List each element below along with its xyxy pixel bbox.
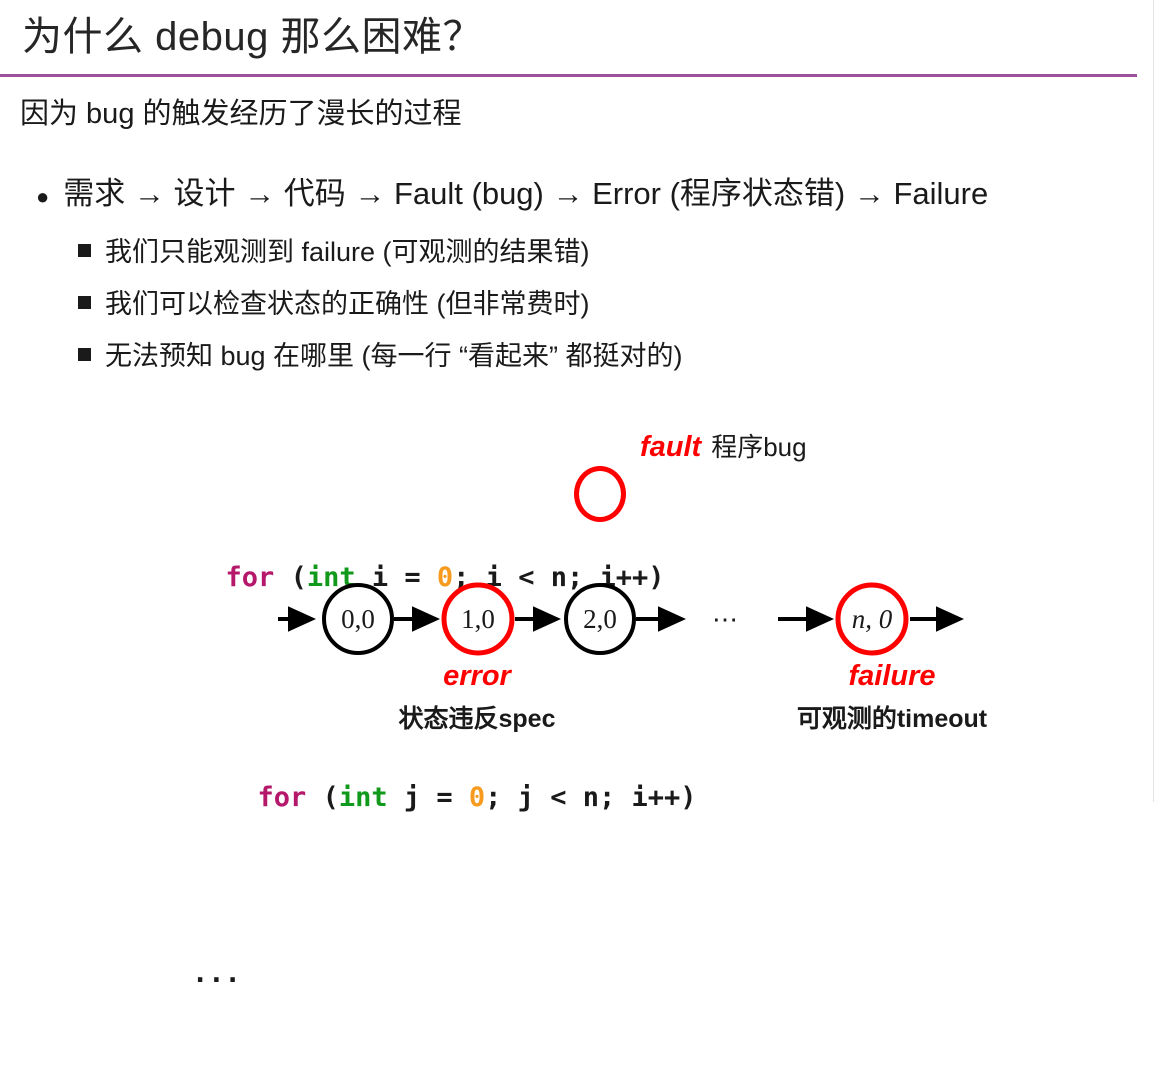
failure-label-cn: 可观测的timeout bbox=[782, 704, 1002, 735]
list-item: 我们可以检查状态的正确性 (但非常费时) bbox=[78, 282, 1118, 334]
slide-canvas: 为什么 debug 那么困难？ 因为 bug 的触发经历了漫长的过程 ● 需求 … bbox=[0, 0, 1154, 802]
list-item: 我们只能观测到 failure (可观测的结果错) bbox=[78, 230, 1118, 282]
state-node-label: n, 0 bbox=[852, 604, 893, 634]
code-token-keyword: for bbox=[258, 782, 307, 813]
bullet-level1: ● 需求 → 设计 → 代码 → Fault (bug) → Error (程序… bbox=[36, 168, 988, 213]
state-diagram: 0,0 1,0 2,0 ⋯ n, 0 bbox=[270, 578, 1010, 664]
state-node-label: 1,0 bbox=[461, 604, 495, 634]
fault-label-cn: 程序bug bbox=[711, 432, 806, 462]
code-token-number: 0 bbox=[469, 782, 485, 813]
lead-paragraph: 因为 bug 的触发经历了漫长的过程 bbox=[20, 96, 462, 134]
state-node-label: 0,0 bbox=[341, 604, 375, 634]
fault-label: fault bbox=[640, 431, 701, 463]
page-title: 为什么 debug 那么困难？ bbox=[0, 0, 1137, 68]
diagram-ellipsis: ⋯ bbox=[712, 605, 738, 634]
code-line-2: for (int j = 0; j < n; i++) bbox=[128, 732, 697, 864]
title-divider bbox=[0, 74, 1137, 77]
sub-bullet-text: 我们只能观测到 failure (可观测的结果错) bbox=[105, 230, 590, 269]
bullet-level1-text: 需求 → 设计 → 代码 → Fault (bug) → Error (程序状态… bbox=[63, 168, 988, 213]
failure-label: failure bbox=[782, 658, 1002, 694]
sub-bullet-list: 我们只能观测到 failure (可观测的结果错) 我们可以检查状态的正确性 (… bbox=[78, 230, 1118, 386]
state-node-label: 2,0 bbox=[583, 604, 617, 634]
square-bullet-icon bbox=[78, 244, 91, 257]
code-token-expr: j = bbox=[388, 782, 469, 813]
error-caption-group: error 状态违反spec bbox=[392, 658, 562, 736]
code-line-3: ... bbox=[128, 952, 697, 996]
sub-bullet-text: 我们可以检查状态的正确性 (但非常费时) bbox=[105, 282, 589, 321]
list-item: 无法预知 bug 在哪里 (每一行 “看起来” 都挺对的) bbox=[78, 334, 1118, 386]
slide-header: 为什么 debug 那么困难？ bbox=[0, 0, 1137, 77]
failure-caption-group: failure 可观测的timeout bbox=[782, 658, 1002, 736]
error-label-cn: 状态违反spec bbox=[392, 704, 562, 735]
square-bullet-icon bbox=[78, 348, 91, 361]
code-token-punct: ( bbox=[306, 782, 339, 813]
sub-bullet-text: 无法预知 bug 在哪里 (每一行 “看起来” 都挺对的) bbox=[105, 334, 683, 373]
code-snippet: for (int i = 0; i < n; i++) for (int j =… bbox=[128, 424, 697, 1084]
code-token-keyword: for bbox=[226, 562, 275, 593]
bullet-dot-icon: ● bbox=[36, 186, 49, 208]
code-token-tail: ; j < n; i++) bbox=[485, 782, 696, 813]
square-bullet-icon bbox=[78, 296, 91, 309]
fault-annotation: fault程序bug bbox=[640, 427, 807, 464]
error-label: error bbox=[392, 658, 562, 694]
code-token-type: int bbox=[339, 782, 388, 813]
